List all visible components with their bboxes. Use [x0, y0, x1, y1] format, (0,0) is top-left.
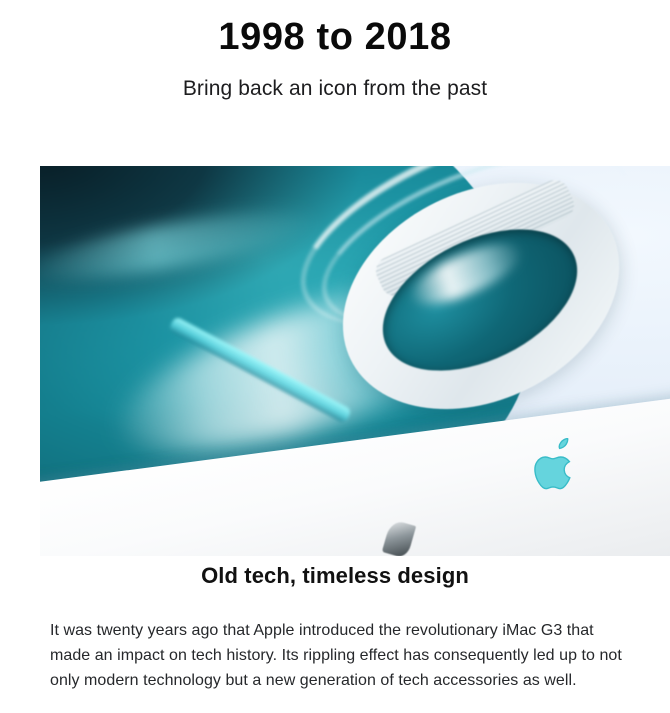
- page-subtitle: Bring back an icon from the past: [0, 76, 670, 102]
- section-heading: Old tech, timeless design: [0, 562, 670, 590]
- page-title: 1998 to 2018: [0, 14, 670, 60]
- page-header: 1998 to 2018 Bring back an icon from the…: [0, 0, 670, 102]
- body-paragraph: It was twenty years ago that Apple intro…: [50, 618, 622, 693]
- page-root: 1998 to 2018 Bring back an icon from the…: [0, 0, 670, 713]
- apple-logo-icon: [534, 438, 582, 496]
- imac-photo-scene: [40, 166, 670, 556]
- hero-image: [40, 166, 670, 556]
